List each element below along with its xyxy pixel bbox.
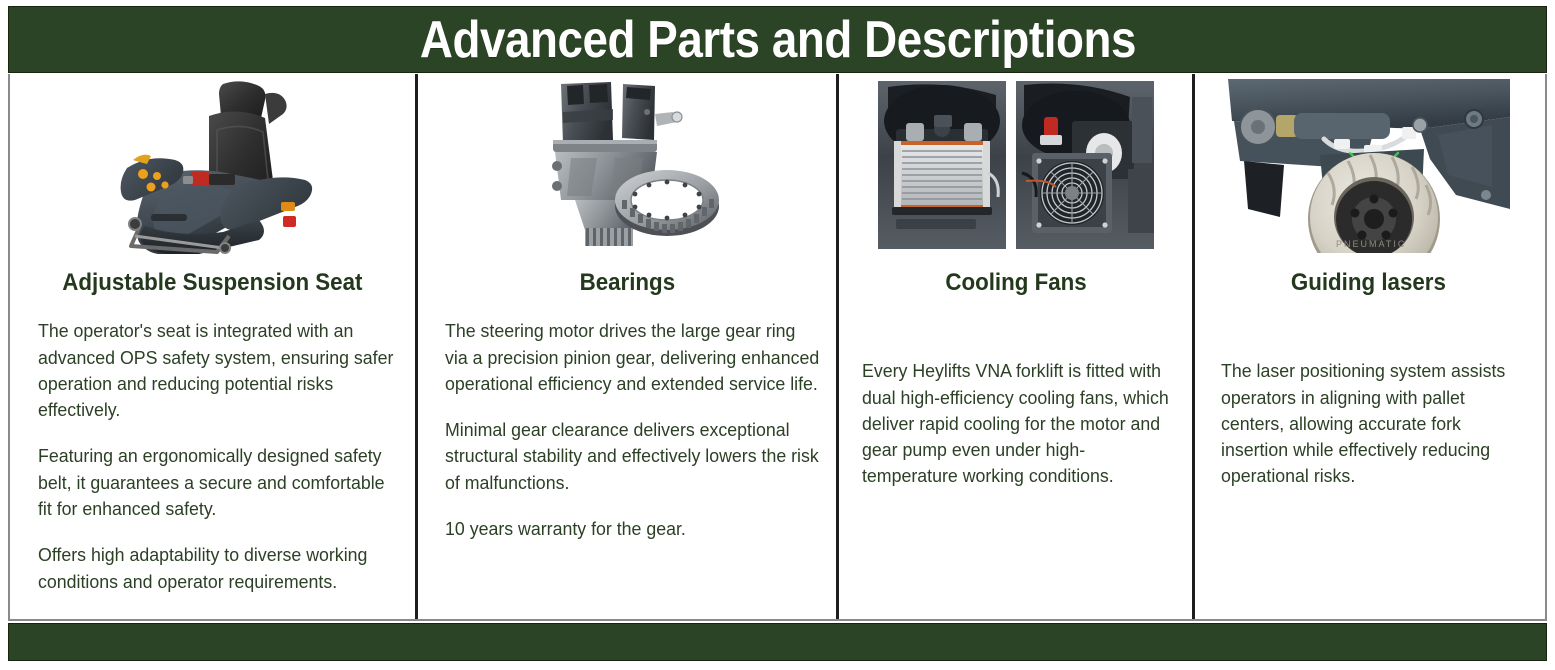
card-title-guiding-lasers: Guiding lasers [1291,270,1446,296]
cooling-fans-photos-illustration [876,77,1156,253]
card-body-bearings: The steering motor drives the large gear… [445,318,819,542]
paragraph: The laser positioning system assists ope… [1221,358,1526,489]
slewing-ring-gear [615,170,719,236]
page-title: Advanced Parts and Descriptions [419,14,1135,66]
paragraph: Minimal gear clearance delivers exceptio… [445,417,819,496]
paragraph: The operator's seat is integrated with a… [38,318,399,423]
column-adjustable-suspension-seat: Adjustable Suspension Seat The operator'… [10,74,418,619]
column-bearings: Bearings The steering motor drives the l… [418,74,839,619]
parts-table: Adjustable Suspension Seat The operator'… [8,74,1547,621]
suspension-seat-illustration [105,76,320,254]
card-body-adjustable-suspension-seat: The operator's seat is integrated with a… [38,318,399,594]
advanced-parts-poster: Advanced Parts and Descriptions [0,0,1555,670]
card-body-guiding-lasers: The laser positioning system assists ope… [1221,358,1526,489]
svg-text:PNEUMATIC: PNEUMATIC [1336,239,1406,249]
fan-photo [1016,81,1154,249]
guiding-laser-wheel-illustration: PNEUMATIC [1224,77,1514,253]
paragraph: Every Heylifts VNA forklift is fitted wi… [862,358,1179,489]
column-cooling-fans: Cooling Fans Every Heylifts VNA forklift… [839,74,1195,619]
footer-banner [8,623,1547,661]
header-banner: Advanced Parts and Descriptions [8,6,1547,73]
card-title-cooling-fans: Cooling Fans [945,270,1086,296]
paragraph: Offers high adaptability to diverse work… [38,542,399,595]
card-title-adjustable-suspension-seat: Adjustable Suspension Seat [62,270,362,296]
bearings-image [418,74,836,256]
paragraph: Featuring an ergonomically designed safe… [38,443,399,522]
guiding-lasers-image: PNEUMATIC [1195,74,1542,256]
paragraph: The steering motor drives the large gear… [445,318,819,397]
paragraph: 10 years warranty for the gear. [445,516,819,542]
card-title-bearings: Bearings [579,270,675,296]
column-guiding-lasers: PNEUMATIC Guiding lasers The laser posit… [1195,74,1542,619]
cooling-fans-image [839,74,1192,256]
radiator-photo [878,81,1006,249]
seat-image [10,74,415,256]
card-body-cooling-fans: Every Heylifts VNA forklift is fitted wi… [862,358,1179,489]
steering-motor-gear-illustration [527,78,727,253]
